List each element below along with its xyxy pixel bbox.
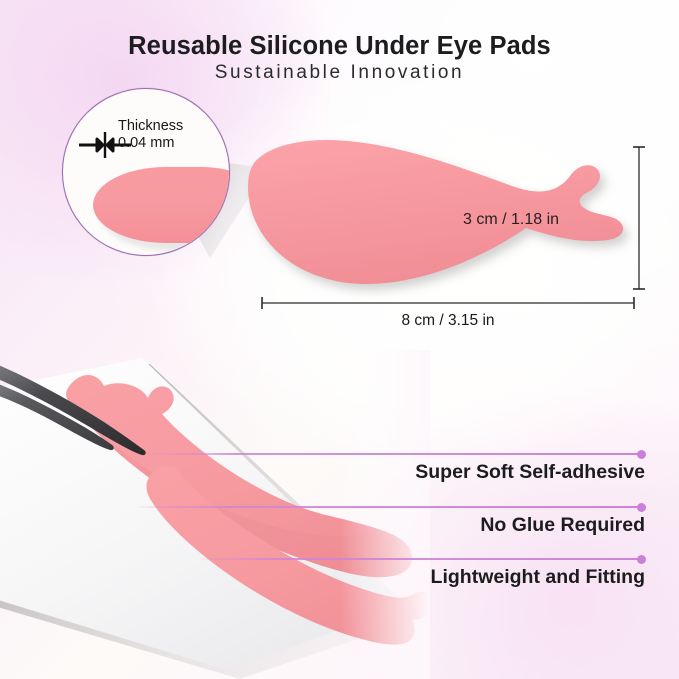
magnified-pad-tip <box>93 167 230 243</box>
width-dimension-line <box>258 296 638 310</box>
height-dimension-line <box>630 142 648 294</box>
callout-line <box>148 453 641 455</box>
silicone-pad-illustration <box>240 132 640 302</box>
width-dimension-label: 8 cm / 3.15 in <box>258 312 638 330</box>
callout-line <box>200 558 641 560</box>
callout-line <box>138 506 641 508</box>
callout-dot <box>637 503 646 512</box>
callout-label: No Glue Required <box>245 514 645 537</box>
thickness-readout: Thickness 0.04 mm <box>118 118 183 152</box>
product-infographic: Reusable Silicone Under Eye Pads Sustain… <box>0 0 679 679</box>
callout-dot <box>637 555 646 564</box>
callout-label: Super Soft Self-adhesive <box>245 461 645 484</box>
height-dimension-label: 3 cm / 1.18 in <box>463 211 559 229</box>
thickness-value: 0.04 mm <box>118 135 183 152</box>
product-diagram: Thickness 0.04 mm 8 cm <box>0 0 679 360</box>
callout-dot <box>637 450 646 459</box>
thickness-label: Thickness <box>118 118 183 134</box>
callout-label: Lightweight and Fitting <box>245 566 645 589</box>
thickness-magnifier: Thickness 0.04 mm <box>62 88 230 256</box>
